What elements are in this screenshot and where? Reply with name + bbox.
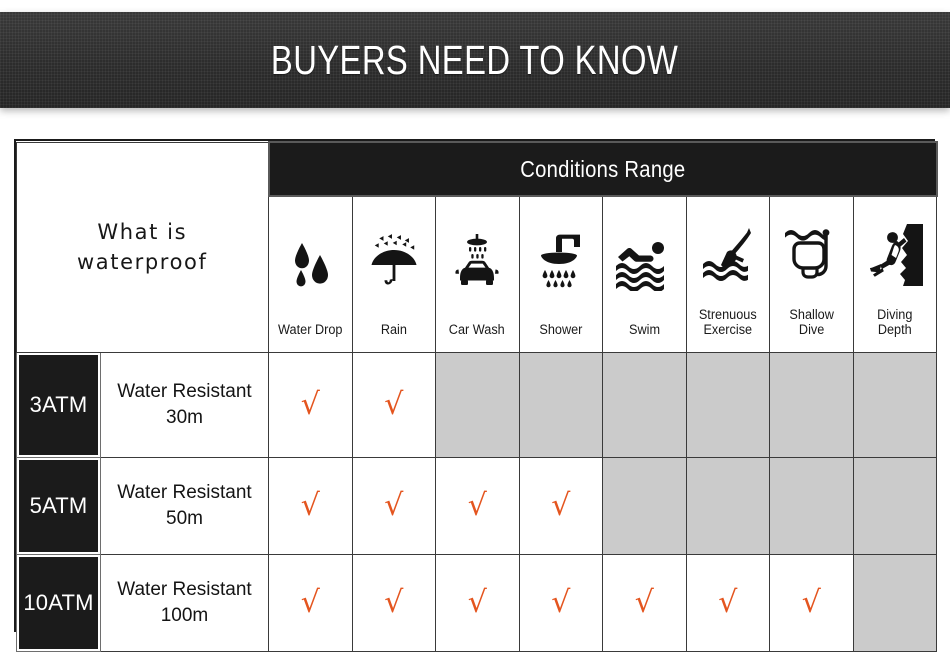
table-header-row-group: What is waterproof Conditions Range [17, 142, 937, 196]
description-line2: 100m [101, 603, 268, 629]
check-mark-icon: √ [468, 488, 487, 523]
cell-5atm-diving-depth-disabled [853, 458, 937, 555]
cell-3atm-diving-depth-disabled [853, 353, 937, 458]
cell-5atm-rain: √ [352, 458, 436, 555]
cell-10atm-water-drop: √ [269, 555, 353, 652]
table-row: 3ATM Water Resistant 30m √ √ [17, 353, 937, 458]
description-line1: Water Resistant [101, 379, 268, 405]
check-mark-icon: √ [718, 585, 737, 620]
cell-10atm-swim: √ [603, 555, 687, 652]
column-label-water-drop: Water Drop [276, 322, 344, 338]
check-mark-icon: √ [551, 585, 570, 620]
cell-3atm-shower-disabled [519, 353, 603, 458]
cell-3atm-strenuous-exercise-disabled [686, 353, 770, 458]
column-header-shower: Shower [519, 196, 603, 353]
description-cell-3atm: Water Resistant 30m [101, 353, 269, 458]
check-mark-icon: √ [384, 585, 403, 620]
waterproof-rating-table: What is waterproof Conditions Range [14, 139, 935, 632]
cell-5atm-shower: √ [519, 458, 603, 555]
corner-title-line1: What is [17, 217, 268, 247]
cell-5atm-strenuous-exercise-disabled [686, 458, 770, 555]
cell-3atm-rain: √ [352, 353, 436, 458]
page-banner: BUYERS NEED TO KNOW [0, 12, 950, 108]
snorkel-mask-icon [772, 203, 851, 307]
description-line2: 50m [101, 506, 268, 532]
cell-10atm-shower: √ [519, 555, 603, 652]
corner-title-line2: waterproof [17, 247, 268, 277]
column-label-strenuous-exercise: Strenuous Exercise [697, 307, 759, 338]
conditions-range-label: Conditions Range [520, 156, 685, 183]
swimmer-icon [605, 203, 684, 322]
diving-jump-icon [689, 203, 768, 307]
column-label-rain: Rain [379, 322, 409, 338]
cell-5atm-shallow-dive-disabled [770, 458, 854, 555]
column-header-rain: Rain [352, 196, 436, 353]
check-mark-icon: √ [635, 585, 654, 620]
description-cell-10atm: Water Resistant 100m [101, 555, 269, 652]
atm-cell-3atm: 3ATM [17, 353, 101, 458]
scuba-diver-icon [856, 203, 935, 307]
check-mark-icon: √ [802, 585, 821, 620]
check-mark-icon: √ [301, 488, 320, 523]
column-label-diving-depth: Diving Depth [875, 307, 914, 338]
check-mark-icon: √ [301, 585, 320, 620]
description-cell-5atm: Water Resistant 50m [101, 458, 269, 555]
table-row: 5ATM Water Resistant 50m √ √ √ √ [17, 458, 937, 555]
description-line1: Water Resistant [101, 480, 268, 506]
corner-title-cell: What is waterproof [17, 142, 269, 353]
column-header-shallow-dive: Shallow Dive [770, 196, 854, 353]
cell-5atm-swim-disabled [603, 458, 687, 555]
cell-3atm-shallow-dive-disabled [770, 353, 854, 458]
umbrella-rain-icon [355, 203, 434, 322]
water-drop-icon [271, 203, 350, 322]
cell-5atm-water-drop: √ [269, 458, 353, 555]
cell-10atm-shallow-dive: √ [770, 555, 854, 652]
car-wash-icon [438, 203, 517, 322]
column-label-shower: Shower [537, 322, 584, 338]
check-mark-icon: √ [384, 387, 403, 422]
column-header-swim: Swim [603, 196, 687, 353]
column-header-diving-depth: Diving Depth [853, 196, 937, 353]
atm-cell-10atm: 10ATM [17, 555, 101, 652]
column-header-strenuous-exercise: Strenuous Exercise [686, 196, 770, 353]
cell-3atm-swim-disabled [603, 353, 687, 458]
cell-10atm-diving-depth-disabled [853, 555, 937, 652]
column-label-car-wash: Car Wash [447, 322, 507, 338]
shower-head-icon [522, 203, 601, 322]
atm-cell-5atm: 5ATM [17, 458, 101, 555]
description-line2: 30m [101, 405, 268, 431]
cell-3atm-car-wash-disabled [436, 353, 520, 458]
column-header-car-wash: Car Wash [436, 196, 520, 353]
cell-5atm-car-wash: √ [436, 458, 520, 555]
page-title: BUYERS NEED TO KNOW [271, 37, 678, 84]
atm-label: 3ATM [19, 355, 98, 455]
check-mark-icon: √ [551, 488, 570, 523]
cell-3atm-water-drop: √ [269, 353, 353, 458]
atm-label: 5ATM [19, 460, 98, 552]
cell-10atm-rain: √ [352, 555, 436, 652]
check-mark-icon: √ [384, 488, 403, 523]
conditions-range-header: Conditions Range [269, 142, 937, 196]
description-line1: Water Resistant [101, 577, 268, 603]
cell-10atm-car-wash: √ [436, 555, 520, 652]
check-mark-icon: √ [468, 585, 487, 620]
check-mark-icon: √ [301, 387, 320, 422]
column-label-swim: Swim [627, 322, 662, 338]
column-label-shallow-dive: Shallow Dive [787, 307, 835, 338]
cell-10atm-strenuous-exercise: √ [686, 555, 770, 652]
column-header-water-drop: Water Drop [269, 196, 353, 353]
atm-label: 10ATM [19, 557, 98, 649]
table-row: 10ATM Water Resistant 100m √ √ √ √ √ √ √ [17, 555, 937, 652]
